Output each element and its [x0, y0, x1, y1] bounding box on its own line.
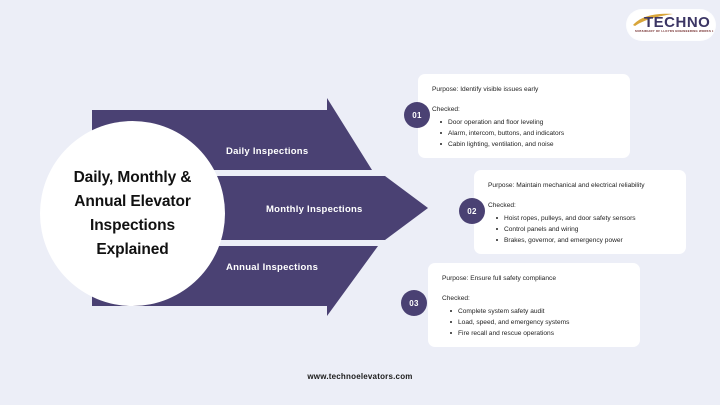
list-item: Control panels and wiring [504, 224, 674, 235]
infographic-canvas: Daily Inspections Monthly Inspections An… [0, 0, 720, 405]
card-checklist: Complete system safety audit Load, speed… [442, 306, 628, 339]
step-badge-03: 03 [401, 290, 427, 316]
list-item: Fire recall and rescue operations [458, 328, 628, 339]
arrow-label-annual: Annual Inspections [226, 262, 318, 273]
card-checked-label: Checked: [488, 201, 674, 211]
card-checklist: Door operation and floor leveling Alarm,… [432, 117, 618, 150]
info-card-03: Purpose: Ensure full safety compliance C… [428, 263, 640, 347]
list-item: Complete system safety audit [458, 306, 628, 317]
center-circle: Daily, Monthly & Annual Elevator Inspect… [40, 121, 225, 306]
logo-wordmark: TECHNO [644, 15, 714, 30]
logo-subline: SUBSIDIARY OF LLOYDS ENGINEERING WORKS L… [635, 30, 715, 34]
list-item: Door operation and floor leveling [448, 117, 618, 128]
card-purpose: Purpose: Maintain mechanical and electri… [488, 181, 674, 191]
list-item: Alarm, intercom, buttons, and indicators [448, 128, 618, 139]
arrow-label-daily: Daily Inspections [226, 146, 308, 157]
card-checklist: Hoist ropes, pulleys, and door safety se… [488, 213, 674, 246]
card-checked-label: Checked: [432, 105, 618, 115]
card-purpose: Purpose: Ensure full safety compliance [442, 274, 628, 284]
footer-website[interactable]: www.technoelevators.com [0, 372, 720, 381]
card-purpose: Purpose: Identify visible issues early [432, 85, 618, 95]
list-item: Cabin lighting, ventilation, and noise [448, 139, 618, 150]
list-item: Brakes, governor, and emergency power [504, 235, 674, 246]
arrow-label-monthly: Monthly Inspections [266, 204, 363, 215]
techno-logo: TECHNO SUBSIDIARY OF LLOYDS ENGINEERING … [627, 10, 715, 40]
info-card-02: Purpose: Maintain mechanical and electri… [474, 170, 686, 254]
list-item: Hoist ropes, pulleys, and door safety se… [504, 213, 674, 224]
page-title: Daily, Monthly & Annual Elevator Inspect… [53, 166, 213, 262]
step-badge-01: 01 [404, 102, 430, 128]
step-badge-02: 02 [459, 198, 485, 224]
card-checked-label: Checked: [442, 294, 628, 304]
info-card-01: Purpose: Identify visible issues early C… [418, 74, 630, 158]
list-item: Load, speed, and emergency systems [458, 317, 628, 328]
